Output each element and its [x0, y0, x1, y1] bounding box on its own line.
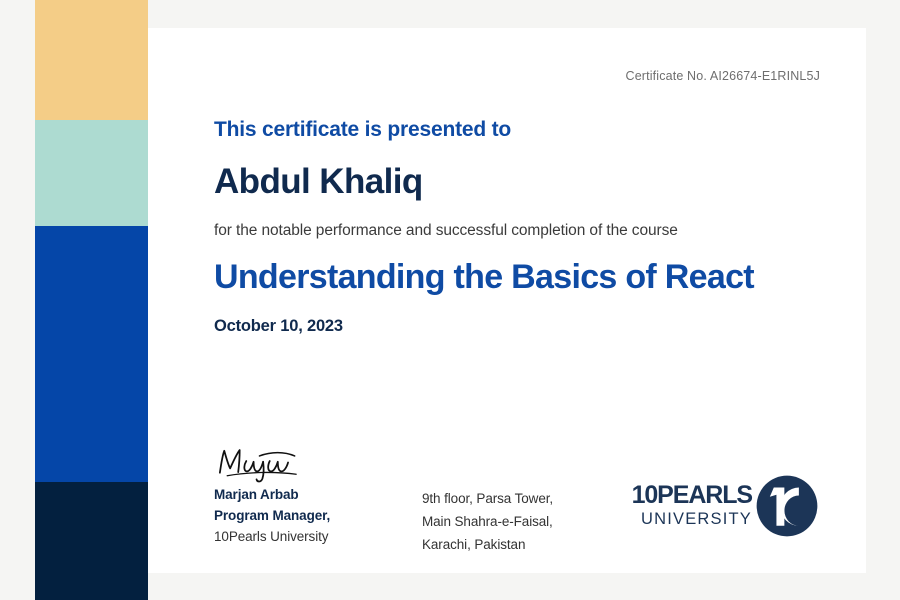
certificate-number: Certificate No. AI26674-E1RINL5J [626, 69, 820, 83]
address-line-2: Main Shahra-e-Faisal, [422, 510, 602, 533]
left-color-ribbon [35, 0, 148, 600]
tenpearls-circle-mark-icon [754, 473, 820, 539]
address-line-3: Karachi, Pakistan [422, 533, 602, 556]
certificate-body: This certificate is presented to Abdul K… [214, 118, 826, 336]
tenpearls-university-logo: 10PEARLS UNIVERSITY [632, 473, 820, 539]
signer-role: Program Manager, [214, 506, 404, 527]
address-line-1: 9th floor, Parsa Tower, [422, 487, 602, 510]
logo-wordmark: 10PEARLS UNIVERSITY [632, 483, 752, 530]
certificate-subtitle: for the notable performance and successf… [214, 222, 826, 240]
ribbon-band-navy [35, 482, 148, 600]
logo-secondary-text: UNIVERSITY [641, 509, 752, 530]
certificate-date: October 10, 2023 [214, 317, 826, 336]
handwritten-signature-icon [214, 443, 324, 485]
logo-primary-text: 10PEARLS [632, 483, 752, 508]
signer-organization: 10Pearls University [214, 527, 404, 548]
certificate-card: Certificate No. AI26674-E1RINL5J This ce… [148, 28, 866, 573]
presented-to-label: This certificate is presented to [214, 118, 826, 142]
certificate-footer: Marjan Arbab Program Manager, 10Pearls U… [214, 443, 836, 563]
certificate-page: Certificate No. AI26674-E1RINL5J This ce… [0, 0, 900, 600]
ribbon-band-blue [35, 226, 148, 482]
ribbon-band-mint [35, 120, 148, 226]
signer-name: Marjan Arbab [214, 485, 404, 506]
signature-block: Marjan Arbab Program Manager, 10Pearls U… [214, 443, 404, 548]
ribbon-band-sand [35, 0, 148, 120]
address-block: 9th floor, Parsa Tower, Main Shahra-e-Fa… [422, 487, 602, 557]
recipient-name: Abdul Khaliq [214, 164, 826, 201]
course-title: Understanding the Basics of React [214, 256, 754, 299]
